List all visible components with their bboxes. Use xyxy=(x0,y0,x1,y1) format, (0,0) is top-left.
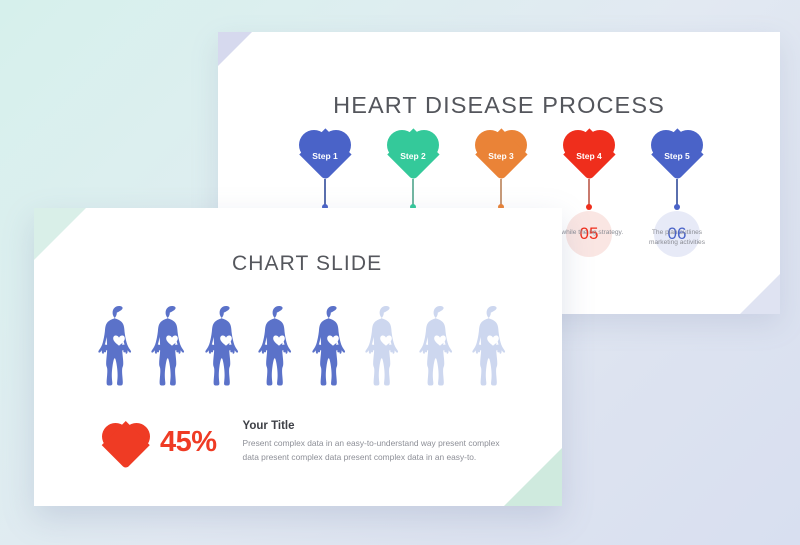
pictogram-figure-2-filled xyxy=(149,304,195,394)
statistic-block: 45% Your Title Present complex data in a… xyxy=(102,416,512,466)
pictogram-figure-4-filled xyxy=(256,304,302,394)
back-slide-title: HEART DISEASE PROCESS xyxy=(218,92,780,119)
step-1-heart-icon: Step 1 xyxy=(299,128,351,178)
pictogram-chart xyxy=(96,304,516,394)
step-2-connector xyxy=(412,179,414,205)
chart-slide-title: CHART SLIDE xyxy=(232,252,382,276)
pictogram-figure-1-filled xyxy=(96,304,142,394)
step-4-connector-dot-icon xyxy=(586,204,592,210)
step-3-label: Step 3 xyxy=(475,128,527,178)
step-4-connector xyxy=(588,179,590,205)
stat-percent-value: 45% xyxy=(160,426,217,459)
step-5-connector xyxy=(676,179,678,205)
pictogram-figure-5-filled xyxy=(310,304,356,394)
pictogram-figure-8-empty xyxy=(470,304,516,394)
pictogram-figure-7-empty xyxy=(417,304,463,394)
step-5-heart-icon: Step 5 xyxy=(651,128,703,178)
stat-heart-icon xyxy=(102,422,150,466)
step-4-heart-icon: Step 4 xyxy=(563,128,615,178)
stat-text-group: Your Title Present complex data in an ea… xyxy=(243,416,512,464)
slide-corner-fold-bottom-right-icon xyxy=(740,274,780,314)
chart-slide-corner-fold-top-left-icon xyxy=(34,208,86,260)
slide-corner-fold-top-left-icon xyxy=(218,32,252,66)
step-5-label: Step 5 xyxy=(651,128,703,178)
step-5-description: The plan outlines marketing activities xyxy=(638,228,716,248)
chart-slide-corner-fold-bottom-right-icon xyxy=(504,448,562,506)
step-5-connector-dot-icon xyxy=(674,204,680,210)
step-3-connector xyxy=(500,179,502,205)
chart-slide[interactable]: CHART SLIDE xyxy=(34,208,562,506)
stat-description: Present complex data in an easy-to-under… xyxy=(243,437,512,464)
step-2-heart-icon: Step 2 xyxy=(387,128,439,178)
step-2-label: Step 2 xyxy=(387,128,439,178)
pictogram-figure-3-filled xyxy=(203,304,249,394)
pictogram-figure-6-empty xyxy=(363,304,409,394)
step-3-heart-icon: Step 3 xyxy=(475,128,527,178)
step-1-label: Step 1 xyxy=(299,128,351,178)
step-1-connector xyxy=(324,179,326,205)
stat-title: Your Title xyxy=(243,420,512,432)
step-4-label: Step 4 xyxy=(563,128,615,178)
